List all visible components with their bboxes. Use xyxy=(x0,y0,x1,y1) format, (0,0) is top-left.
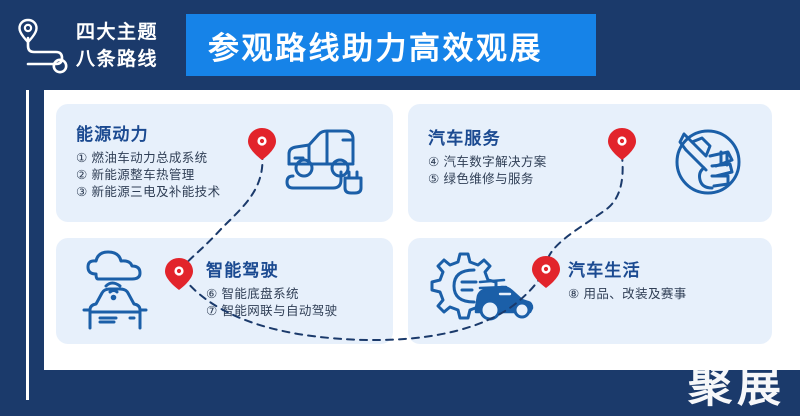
cards-grid: 能源动力 ① 燃油车动力总成系统 ② 新能源整车热管理 ③ 新能源三电及补能技术 xyxy=(56,104,772,356)
card-title: 汽车生活 xyxy=(568,256,687,281)
card-item: ⑦ 智能网联与自动驾驶 xyxy=(206,303,338,320)
card-item: ② 新能源整车热管理 xyxy=(76,167,220,184)
card-item: ③ 新能源三电及补能技术 xyxy=(76,184,220,201)
card-energy-power-text: 能源动力 ① 燃油车动力总成系统 ② 新能源整车热管理 ③ 新能源三电及补能技术 xyxy=(76,120,220,201)
gear-sportscar-icon xyxy=(418,246,534,336)
header-line-2: 八条路线 xyxy=(76,48,172,72)
card-item: ④ 汽车数字解决方案 xyxy=(428,154,547,171)
left-accent-rule xyxy=(26,90,29,400)
header-line-1: 四大主题 xyxy=(76,21,172,45)
card-smart-driving[interactable]: 智能驾驶 ⑥ 智能底盘系统 ⑦ 智能网联与自动驾驶 xyxy=(56,238,393,344)
card-auto-service[interactable]: 汽车服务 ④ 汽车数字解决方案 ⑤ 绿色维修与服务 xyxy=(408,104,772,222)
header-subtitle-block: 四大主题 八条路线 xyxy=(76,16,172,76)
card-auto-service-text: 汽车服务 ④ 汽车数字解决方案 ⑤ 绿色维修与服务 xyxy=(428,124,547,188)
card-smart-driving-text: 智能驾驶 ⑥ 智能底盘系统 ⑦ 智能网联与自动驾驶 xyxy=(206,256,338,320)
card-item: ⑤ 绿色维修与服务 xyxy=(428,171,547,188)
card-energy-power[interactable]: 能源动力 ① 燃油车动力总成系统 ② 新能源整车热管理 ③ 新能源三电及补能技术 xyxy=(56,104,393,222)
card-auto-life[interactable]: 汽车生活 ⑧ 用品、改装及赛事 xyxy=(408,238,772,344)
card-item: ① 燃油车动力总成系统 xyxy=(76,150,220,167)
title-banner: 参观路线助力高效观展 xyxy=(186,14,596,76)
watermark-text: 聚展 xyxy=(660,360,786,414)
card-item: ⑥ 智能底盘系统 xyxy=(206,286,338,303)
card-title: 汽车服务 xyxy=(428,124,547,149)
ev-car-charging-icon xyxy=(273,122,379,204)
card-item: ⑧ 用品、改装及赛事 xyxy=(568,286,687,303)
cloud-connected-car-icon xyxy=(70,248,166,336)
page-title: 参观路线助力高效观展 xyxy=(208,23,543,68)
card-auto-life-text: 汽车生活 ⑧ 用品、改装及赛事 xyxy=(568,256,687,303)
header-bar: 四大主题 八条路线 参观路线助力高效观展 xyxy=(0,0,800,92)
hand-wrench-icon xyxy=(666,120,750,204)
card-title: 能源动力 xyxy=(76,120,220,145)
card-title: 智能驾驶 xyxy=(206,256,338,281)
route-path-icon xyxy=(16,16,72,74)
watermark-logo: 聚展 xyxy=(660,360,786,414)
